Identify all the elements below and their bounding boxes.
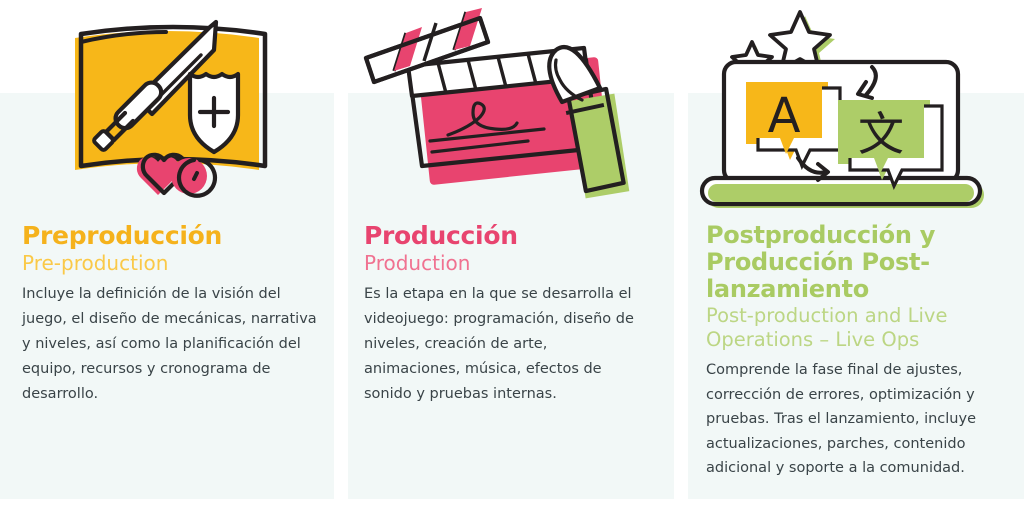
bubble-glyph-cjk: 文: [858, 107, 904, 161]
book-sword-shield-illustration: [0, 0, 334, 215]
card-text-preproduccion: Preproducción Pre-production Incluye la …: [22, 222, 318, 407]
bubble-glyph-a: A: [768, 88, 801, 144]
card-text-postproduccion: Postproducción y Producción Post-lanzami…: [706, 222, 988, 481]
timer-icon: [171, 158, 215, 196]
card-body-postproduccion: Comprende la fase final de ajustes, corr…: [706, 358, 988, 481]
laptop-translation-illustration: A 文: [688, 0, 1024, 215]
card-subtitle-preproduccion: Pre-production: [22, 251, 318, 276]
card-title-produccion: Producción: [364, 222, 644, 250]
card-text-produccion: Producción Production Es la etapa en la …: [364, 222, 644, 407]
card-body-preproduccion: Incluye la definición de la visión del j…: [22, 282, 318, 407]
card-title-postproduccion: Postproducción y Producción Post-lanzami…: [706, 222, 988, 303]
clapperboard-paintbrush-illustration: [348, 0, 674, 215]
card-subtitle-produccion: Production: [364, 251, 644, 276]
card-title-preproduccion: Preproducción: [22, 222, 318, 250]
three-column-process-graphic: A 文 Preproducción Pre-production Incl: [0, 0, 1024, 507]
card-body-produccion: Es la etapa en la que se desarrolla el v…: [364, 282, 644, 407]
card-subtitle-postproduccion: Post-production and Live Operations – Li…: [706, 304, 988, 352]
shield-plus-icon: [190, 74, 238, 152]
